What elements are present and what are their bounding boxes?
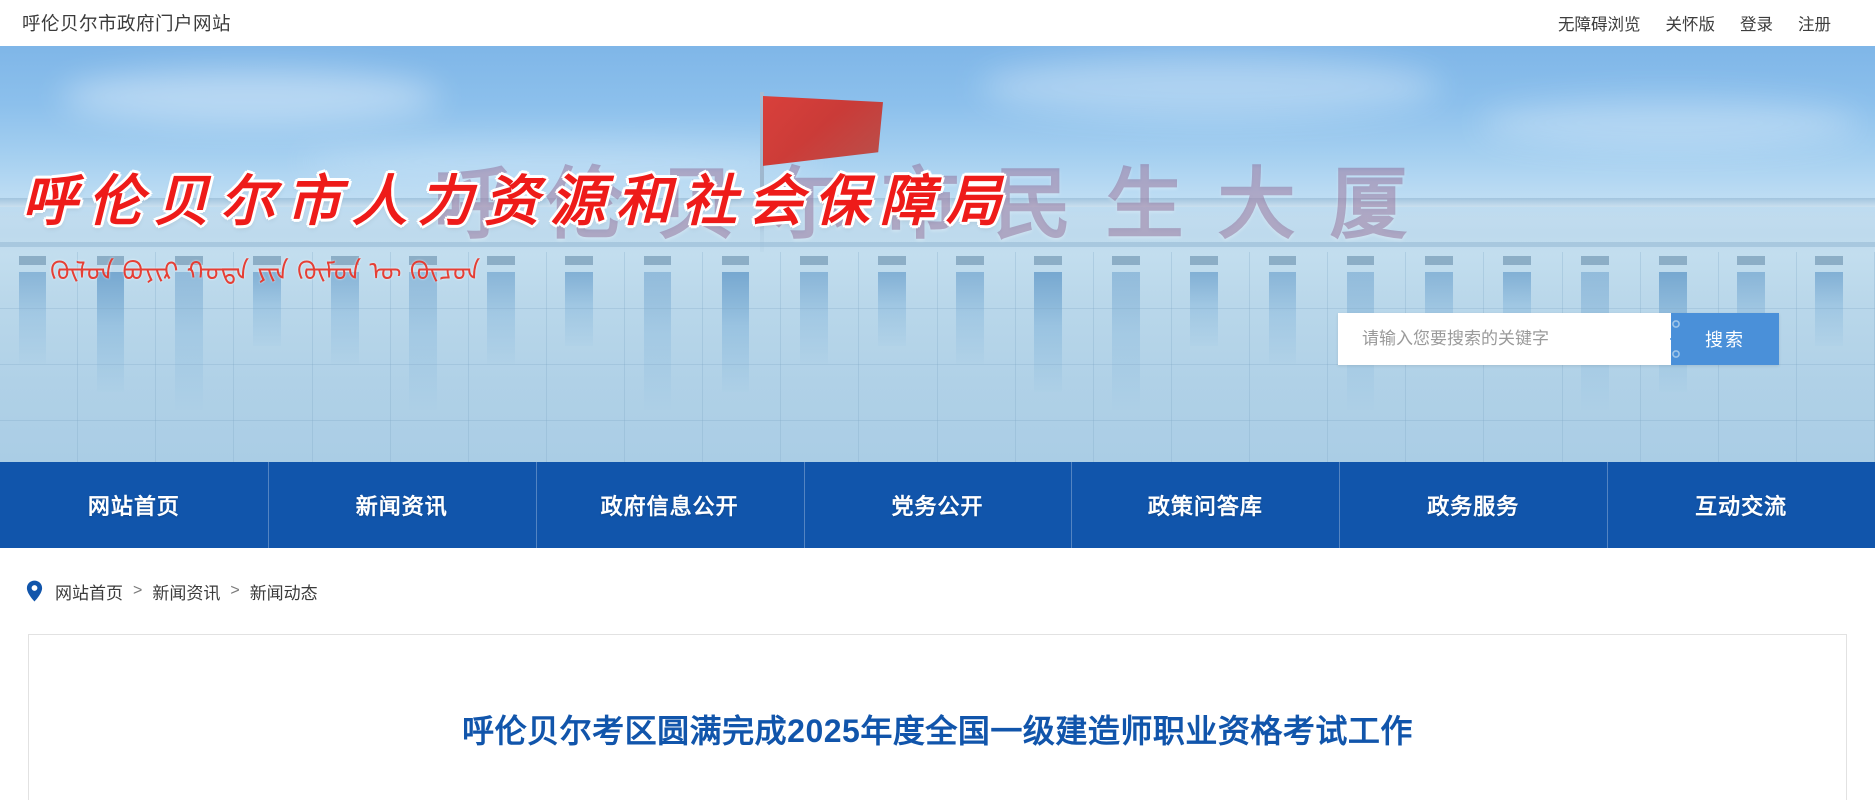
main-navigation: 网站首页 新闻资讯 政府信息公开 党务公开 政策问答库 政务服务 互动交流 — [0, 462, 1875, 548]
breadcrumb-news[interactable]: 新闻资讯 — [152, 579, 220, 604]
nav-item-gov-services[interactable]: 政务服务 — [1339, 462, 1607, 548]
care-version-link[interactable]: 关怀版 — [1666, 11, 1716, 35]
search-box: 搜索 — [1338, 313, 1779, 365]
cloud-decoration — [1480, 98, 1860, 148]
nav-item-interaction[interactable]: 互动交流 — [1607, 462, 1875, 548]
breadcrumb-news-updates[interactable]: 新闻动态 — [250, 579, 318, 604]
nav-item-gov-info-disclosure[interactable]: 政府信息公开 — [536, 462, 804, 548]
top-bar-links: 无障碍浏览 关怀版 登录 注册 — [1558, 11, 1853, 35]
department-title: 呼伦贝尔市人力资源和社会保障局 — [22, 156, 1012, 236]
nav-item-home[interactable]: 网站首页 — [0, 462, 268, 548]
breadcrumb-separator: > — [230, 582, 239, 600]
breadcrumb-home[interactable]: 网站首页 — [55, 579, 123, 604]
nav-item-news[interactable]: 新闻资讯 — [268, 462, 536, 548]
department-title-mongolian: ᠬᠥᠯᠥᠨ ᠪᠤᠶᠢᠷ ᠬᠣᠲᠠ ᠶᠢᠨ ᠬᠥᠮᠥᠨ ᠦ ᠬᠦᠴᠦᠨ — [50, 242, 480, 288]
nav-item-policy-qa[interactable]: 政策问答库 — [1071, 462, 1339, 548]
breadcrumb-separator: > — [133, 582, 142, 600]
search-input[interactable] — [1338, 313, 1671, 365]
site-banner: 呼伦贝尔市民生大厦 呼伦贝尔市人力资源和社会保障局 ᠬᠥᠯᠥᠨ ᠪᠤᠶᠢᠷ ᠬᠣ… — [0, 46, 1875, 462]
location-pin-icon — [26, 580, 43, 602]
accessibility-link[interactable]: 无障碍浏览 — [1558, 11, 1641, 35]
login-link[interactable]: 登录 — [1740, 11, 1773, 35]
top-bar: 呼伦贝尔市政府门户网站 无障碍浏览 关怀版 登录 注册 — [0, 0, 1875, 46]
breadcrumb: 网站首页 > 新闻资讯 > 新闻动态 — [0, 548, 1875, 634]
search-button[interactable]: 搜索 — [1671, 313, 1779, 365]
site-title: 呼伦贝尔市政府门户网站 — [22, 10, 231, 36]
cloud-decoration — [60, 70, 440, 124]
cloud-decoration — [980, 56, 1440, 118]
nav-item-party-affairs[interactable]: 党务公开 — [804, 462, 1072, 548]
article-card: 呼伦贝尔考区圆满完成2025年度全国一级建造师职业资格考试工作 — [28, 634, 1847, 800]
register-link[interactable]: 注册 — [1798, 11, 1831, 35]
search-button-label: 搜索 — [1705, 326, 1745, 352]
ruyi-cloud-ornament-icon — [1670, 313, 1696, 365]
